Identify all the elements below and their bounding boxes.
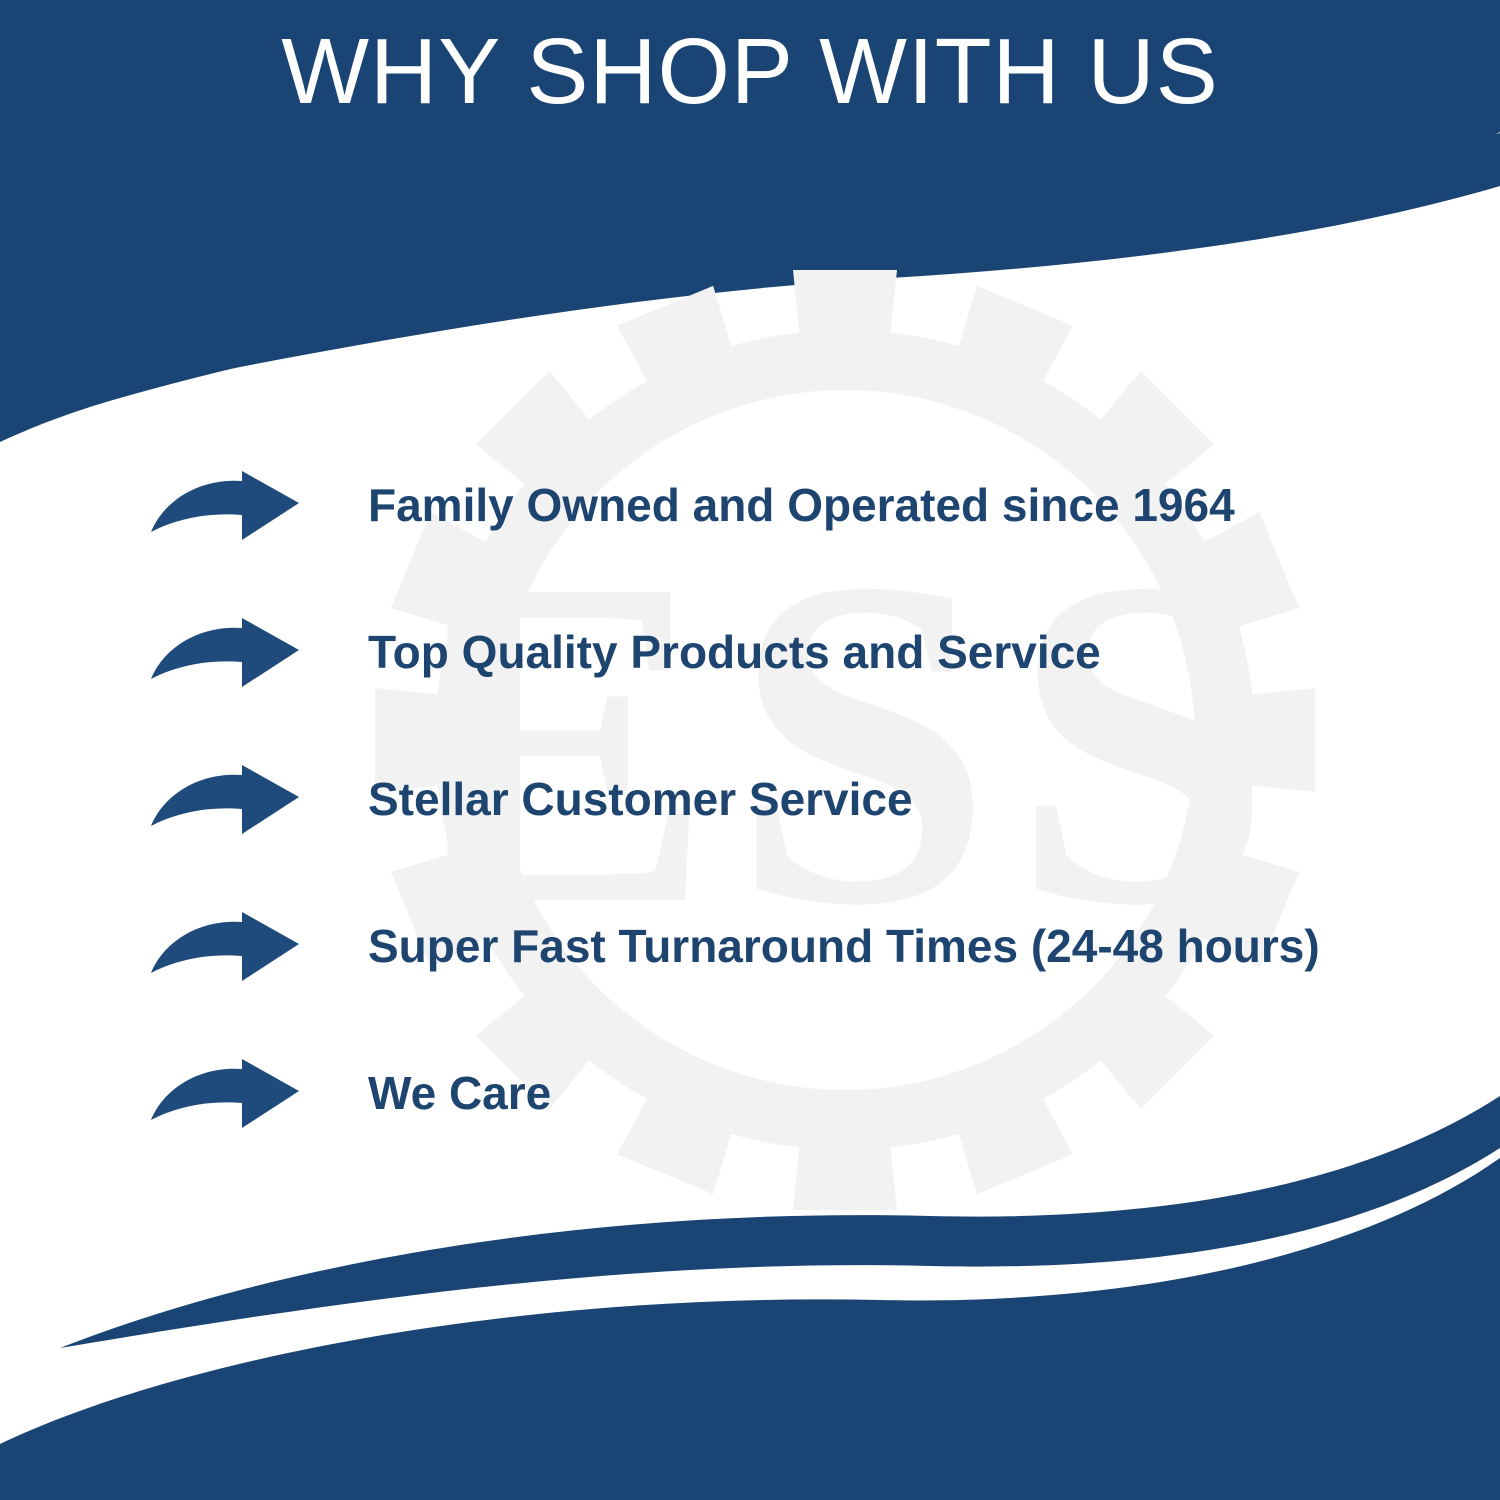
benefits-list: Family Owned and Operated since 1964 Top… <box>0 432 1500 1167</box>
header-band: WHY SHOP WITH US <box>0 0 1500 150</box>
list-item-label: Family Owned and Operated since 1964 <box>368 481 1235 529</box>
list-item: Super Fast Turnaround Times (24-48 hours… <box>0 873 1500 1020</box>
curved-arrow-right-icon <box>150 764 300 836</box>
list-item: Top Quality Products and Service <box>0 579 1500 726</box>
curved-arrow-right-icon <box>150 617 300 689</box>
list-item-label: Top Quality Products and Service <box>368 628 1101 676</box>
list-item-label: We Care <box>368 1069 551 1117</box>
list-item: We Care <box>0 1020 1500 1167</box>
promo-banner: ESS WHY SHOP WITH US Family Owned and Op… <box>0 0 1500 1500</box>
list-item: Stellar Customer Service <box>0 726 1500 873</box>
curved-arrow-right-icon <box>150 1058 300 1130</box>
list-item-label: Super Fast Turnaround Times (24-48 hours… <box>368 922 1320 970</box>
list-item: Family Owned and Operated since 1964 <box>0 432 1500 579</box>
list-item-label: Stellar Customer Service <box>368 775 913 823</box>
page-title: WHY SHOP WITH US <box>281 25 1218 118</box>
curved-arrow-right-icon <box>150 470 300 542</box>
curved-arrow-right-icon <box>150 911 300 983</box>
